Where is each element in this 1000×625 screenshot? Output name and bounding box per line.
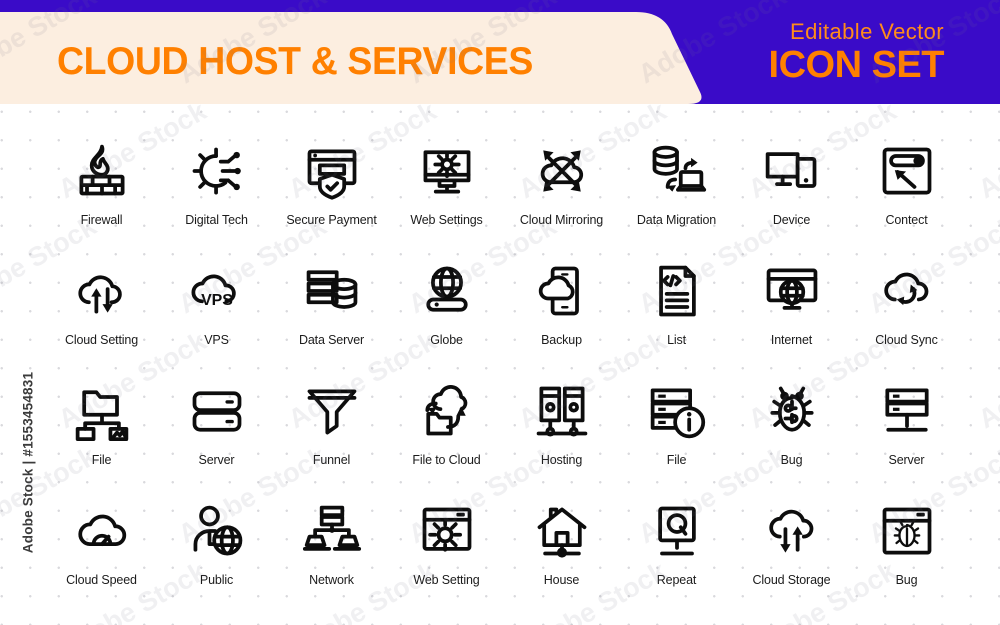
- icon-label: Backup: [541, 333, 582, 347]
- icon-label: Globe: [430, 333, 463, 347]
- icon-label: Server: [199, 453, 235, 467]
- web-settings-icon: [414, 138, 480, 204]
- icon-label: Hosting: [541, 453, 582, 467]
- icon-cell-file[interactable]: File: [44, 368, 159, 488]
- icon-cell-data-migration[interactable]: Data Migration: [619, 128, 734, 248]
- icon-grid: Firewall Digital Tech Secure Payment Web…: [44, 128, 964, 608]
- icon-label: Cloud Setting: [65, 333, 138, 347]
- icon-label: Cloud Mirroring: [520, 213, 603, 227]
- icon-cell-web-settings[interactable]: Web Settings: [389, 128, 504, 248]
- firewall-icon: [69, 138, 135, 204]
- cloud-speed-icon: [69, 498, 135, 564]
- icon-cell-funnel[interactable]: Funnel: [274, 368, 389, 488]
- icon-cell-list[interactable]: List: [619, 248, 734, 368]
- cloud-mirroring-icon: [529, 138, 595, 204]
- icon-label: Firewall: [81, 213, 123, 227]
- icon-cell-cloud-speed[interactable]: Cloud Speed: [44, 488, 159, 608]
- icon-label: Web Settings: [410, 213, 482, 227]
- web-setting-icon: [414, 498, 480, 564]
- icon-cell-secure-payment[interactable]: Secure Payment: [274, 128, 389, 248]
- icon-label: Secure Payment: [286, 213, 376, 227]
- icon-label: File: [667, 453, 687, 467]
- icon-cell-backup[interactable]: Backup: [504, 248, 619, 368]
- watermark-text: Adobe Stock: [973, 326, 1000, 435]
- icon-label: Cloud Storage: [753, 573, 831, 587]
- icon-cell-digital-tech[interactable]: Digital Tech: [159, 128, 274, 248]
- data-migration-icon: [644, 138, 710, 204]
- icon-cell-network[interactable]: Network: [274, 488, 389, 608]
- icon-cell-file-to-cloud[interactable]: File to Cloud: [389, 368, 504, 488]
- icon-label: Data Server: [299, 333, 364, 347]
- icon-cell-globe[interactable]: Globe: [389, 248, 504, 368]
- icon-label: Web Setting: [413, 573, 479, 587]
- icon-cell-bug[interactable]: Bug: [734, 368, 849, 488]
- page-title: CLOUD HOST & SERVICES: [57, 40, 533, 84]
- icon-cell-bug-2[interactable]: Bug: [849, 488, 964, 608]
- icon-label: VPS: [204, 333, 229, 347]
- icon-cell-firewall[interactable]: Firewall: [44, 128, 159, 248]
- icon-cell-cloud-setting[interactable]: Cloud Setting: [44, 248, 159, 368]
- icon-label: Device: [773, 213, 810, 227]
- network-icon: [299, 498, 365, 564]
- secure-payment-icon: [299, 138, 365, 204]
- icon-cell-cloud-sync[interactable]: Cloud Sync: [849, 248, 964, 368]
- contect-icon: [874, 138, 940, 204]
- watermark-text: Adobe Stock: [973, 556, 1000, 625]
- server-rack-icon: [184, 378, 250, 444]
- file-to-cloud-icon: [414, 378, 480, 444]
- icon-cell-server[interactable]: Server: [159, 368, 274, 488]
- svg-text:VPS: VPS: [201, 292, 233, 309]
- poster-header: CLOUD HOST & SERVICES Editable Vector IC…: [0, 0, 1000, 104]
- icon-set-label: ICON SET: [769, 44, 944, 87]
- icon-cell-data-server[interactable]: Data Server: [274, 248, 389, 368]
- icon-label: Internet: [771, 333, 812, 347]
- device-icon: [759, 138, 825, 204]
- header-subtitle: Editable Vector: [790, 19, 944, 45]
- repeat-icon: [644, 498, 710, 564]
- globe-icon: [414, 258, 480, 324]
- data-server-icon: [299, 258, 365, 324]
- house-icon: [529, 498, 595, 564]
- icon-label: Repeat: [657, 573, 696, 587]
- public-user-icon: [184, 498, 250, 564]
- server-stand-icon: [874, 378, 940, 444]
- hosting-icon: [529, 378, 595, 444]
- icon-label: File: [92, 453, 112, 467]
- icon-label: Network: [309, 573, 354, 587]
- internet-icon: [759, 258, 825, 324]
- icon-cell-cloud-storage[interactable]: Cloud Storage: [734, 488, 849, 608]
- icon-label: Cloud Speed: [66, 573, 137, 587]
- icon-cell-house[interactable]: House: [504, 488, 619, 608]
- list-icon: [644, 258, 710, 324]
- icon-cell-server-2[interactable]: Server: [849, 368, 964, 488]
- icon-label: Digital Tech: [185, 213, 248, 227]
- icon-cell-repeat[interactable]: Repeat: [619, 488, 734, 608]
- icon-cell-web-setting[interactable]: Web Setting: [389, 488, 504, 608]
- icon-label: Contect: [885, 213, 927, 227]
- icon-cell-cloud-mirroring[interactable]: Cloud Mirroring: [504, 128, 619, 248]
- icon-cell-contect[interactable]: Contect: [849, 128, 964, 248]
- icon-label: Bug: [781, 453, 803, 467]
- icon-cell-hosting[interactable]: Hosting: [504, 368, 619, 488]
- watermark-text: Adobe Stock: [973, 96, 1000, 205]
- icon-label: Bug: [896, 573, 918, 587]
- icon-label: List: [667, 333, 686, 347]
- file-folder-icon: [69, 378, 135, 444]
- browser-bug-icon: [874, 498, 940, 564]
- backup-icon: [529, 258, 595, 324]
- stock-credit-label: Adobe Stock | #1553454831: [21, 348, 36, 578]
- poster-canvas: CLOUD HOST & SERVICES Editable Vector IC…: [0, 0, 1000, 625]
- cloud-storage-icon: [759, 498, 825, 564]
- icon-label: File to Cloud: [412, 453, 480, 467]
- icon-label: Public: [200, 573, 233, 587]
- icon-cell-public[interactable]: Public: [159, 488, 274, 608]
- vps-icon: VPS: [184, 258, 250, 324]
- file-info-icon: [644, 378, 710, 444]
- icon-label: Data Migration: [637, 213, 716, 227]
- icon-label: Server: [889, 453, 925, 467]
- icon-cell-file-info[interactable]: File: [619, 368, 734, 488]
- bug-icon: [759, 378, 825, 444]
- funnel-icon: [299, 378, 365, 444]
- icon-cell-internet[interactable]: Internet: [734, 248, 849, 368]
- digital-tech-icon: [184, 138, 250, 204]
- cloud-sync-icon: [874, 258, 940, 324]
- cloud-setting-icon: [69, 258, 135, 324]
- icon-cell-device[interactable]: Device: [734, 128, 849, 248]
- icon-cell-vps[interactable]: VPSVPS: [159, 248, 274, 368]
- icon-label: Funnel: [313, 453, 350, 467]
- icon-label: House: [544, 573, 579, 587]
- icon-label: Cloud Sync: [875, 333, 937, 347]
